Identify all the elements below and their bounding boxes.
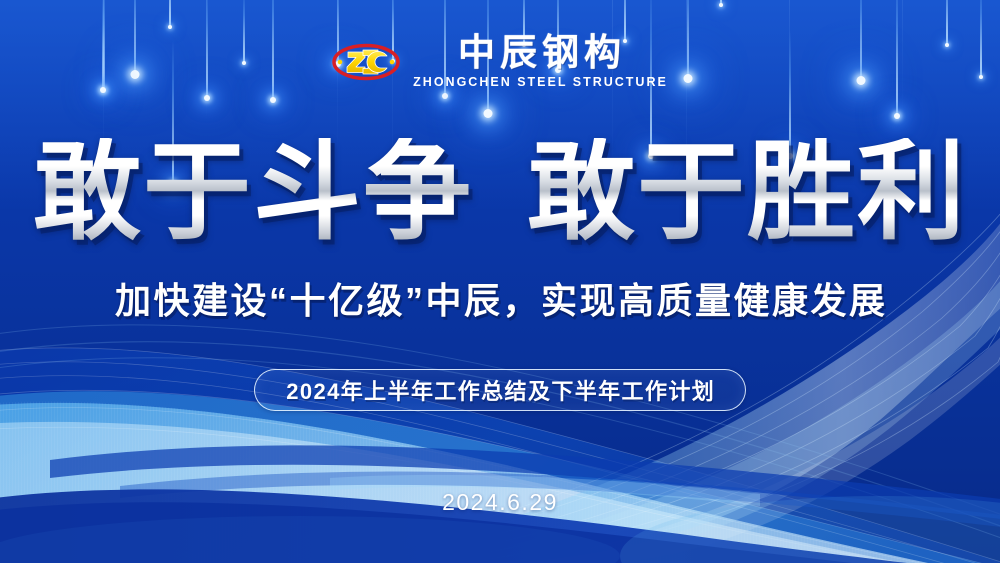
logo-wordmark: 中辰钢构 ZHONGCHEN STEEL STRUCTURE [411, 34, 668, 89]
report-scope-badge-wrap: 2024年上半年工作总结及下半年工作计划 [0, 369, 1000, 411]
zic-oval-ibeam-logo-icon [332, 37, 400, 87]
poster-canvas: 中辰钢构 ZHONGCHEN STEEL STRUCTURE 敢于斗争敢于胜利 … [0, 0, 1000, 563]
logo-english-name: ZHONGCHEN STEEL STRUCTURE [411, 75, 668, 89]
page-title: 敢于斗争敢于胜利 [0, 138, 1000, 246]
page-subtitle: 加快建设“十亿级”中辰，实现高质量健康发展 [0, 272, 1000, 324]
title-segment-2: 敢于胜利 [527, 138, 967, 246]
company-logo: 中辰钢构 ZHONGCHEN STEEL STRUCTURE [0, 34, 1000, 89]
report-scope-badge: 2024年上半年工作总结及下半年工作计划 [254, 369, 746, 411]
title-segment-1: 敢于斗争 [33, 138, 473, 246]
report-scope-badge-label: 2024年上半年工作总结及下半年工作计划 [285, 374, 715, 406]
logo-chinese-name: 中辰钢构 [453, 34, 626, 71]
poster-content: 中辰钢构 ZHONGCHEN STEEL STRUCTURE 敢于斗争敢于胜利 … [0, 0, 1000, 563]
presentation-date: 2024.6.29 [0, 489, 1000, 516]
